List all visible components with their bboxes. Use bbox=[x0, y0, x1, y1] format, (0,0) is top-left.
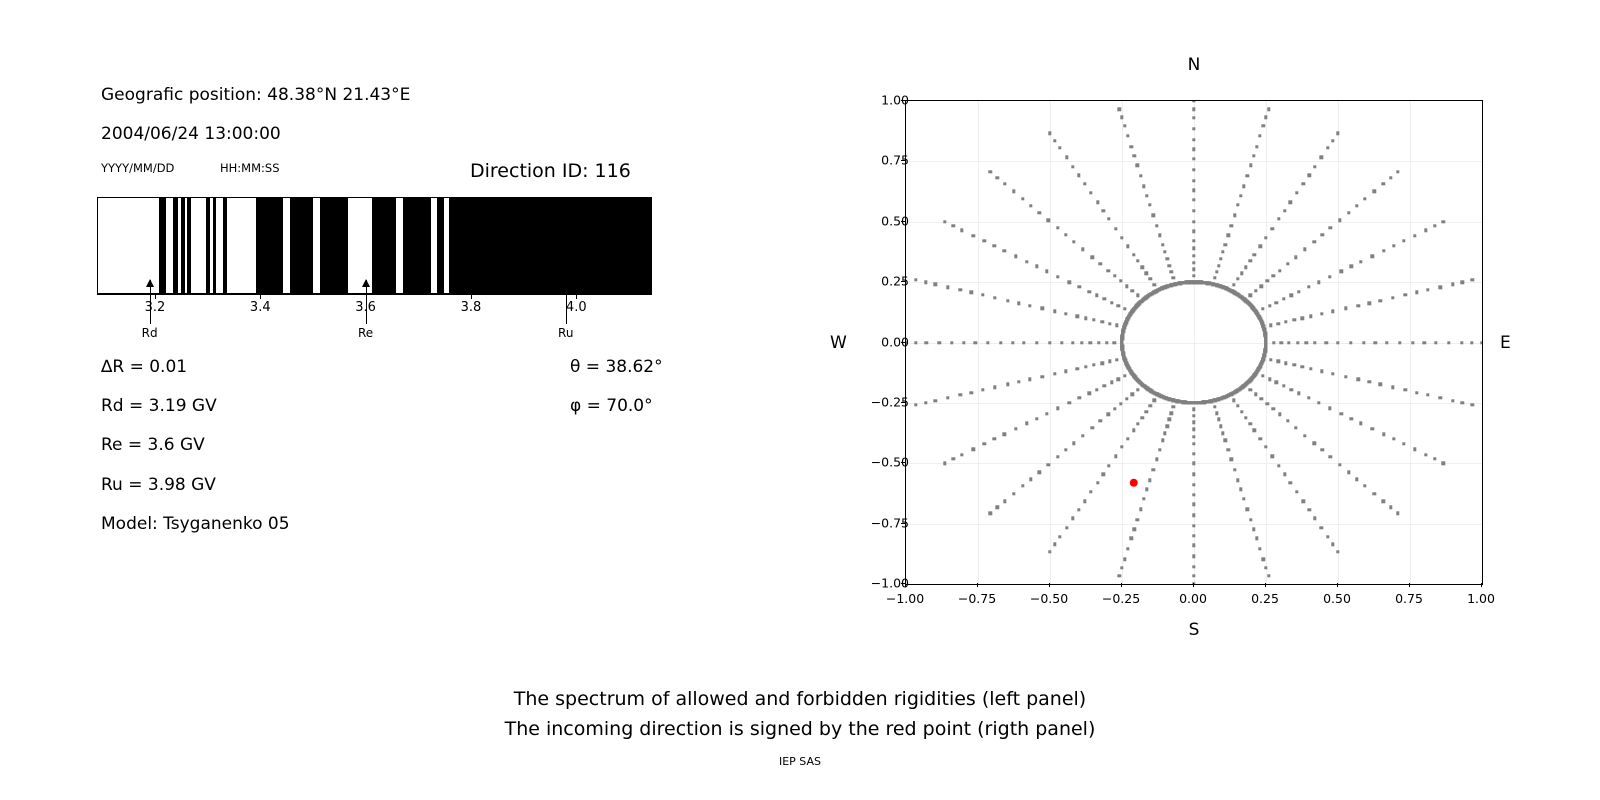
direction-grid-point bbox=[1217, 418, 1220, 421]
direction-grid-point bbox=[1172, 276, 1175, 279]
direction-grid-point bbox=[1145, 272, 1148, 275]
direction-grid-point bbox=[1244, 266, 1247, 269]
direction-grid-point bbox=[1277, 217, 1280, 220]
direction-grid-point bbox=[1012, 190, 1015, 193]
direction-grid-point bbox=[1275, 381, 1278, 384]
spectrum-forbidden-band bbox=[256, 198, 283, 293]
direction-grid-point bbox=[1071, 516, 1074, 519]
spectrum-tick-label: 4.0 bbox=[566, 300, 587, 315]
direction-grid-point bbox=[1359, 260, 1362, 263]
direction-grid-point bbox=[1192, 138, 1195, 141]
direction-grid-point bbox=[1253, 253, 1256, 256]
direction-grid-point bbox=[1262, 124, 1265, 127]
param-phi: φ = 70.0° bbox=[570, 396, 653, 416]
direction-grid-point bbox=[1115, 358, 1118, 361]
direction-grid-point bbox=[914, 278, 917, 281]
direction-grid-point bbox=[1260, 397, 1263, 400]
direction-grid-point bbox=[1136, 388, 1139, 391]
direction-grid-point bbox=[1242, 497, 1245, 500]
direction-grid-point bbox=[1313, 341, 1316, 344]
compass-east-label: E bbox=[1500, 333, 1511, 353]
direction-grid-point bbox=[1297, 392, 1300, 395]
direction-grid-point bbox=[1402, 239, 1405, 242]
direction-grid-point bbox=[1068, 280, 1071, 283]
direction-grid-point bbox=[1368, 301, 1371, 304]
direction-grid-point bbox=[1163, 250, 1166, 253]
direction-grid-point bbox=[1083, 182, 1086, 185]
direction-grid-point bbox=[1249, 518, 1252, 521]
direction-grid-point bbox=[952, 224, 955, 227]
direction-grid-point bbox=[1092, 318, 1095, 321]
direction-grid-point bbox=[1089, 490, 1092, 493]
param-delta-r: ∆R = 0.01 bbox=[101, 357, 187, 377]
spectrum-forbidden-band bbox=[173, 198, 178, 293]
direction-grid-point bbox=[943, 220, 946, 223]
direction-grid-point bbox=[1145, 194, 1148, 197]
direction-grid-point bbox=[1130, 537, 1133, 540]
spectrum-tick bbox=[260, 294, 261, 299]
spectrum-tick-label: 3.4 bbox=[250, 300, 271, 315]
direction-grid-point bbox=[1192, 565, 1195, 568]
direction-grid-point bbox=[1192, 435, 1195, 438]
direction-grid-point bbox=[1192, 274, 1195, 277]
direction-grid-point bbox=[1025, 260, 1028, 263]
direction-grid-point bbox=[1296, 341, 1299, 344]
direction-grid-point bbox=[1249, 164, 1252, 167]
direction-grid-point bbox=[1224, 243, 1227, 246]
direction-grid-point bbox=[1246, 508, 1249, 511]
x-axis-tick-label: −0.50 bbox=[1030, 591, 1068, 606]
direction-grid-point bbox=[1145, 410, 1148, 413]
direction-grid-point bbox=[1084, 365, 1087, 368]
footer-label: IEP SAS bbox=[0, 755, 1600, 768]
direction-grid-point bbox=[1268, 377, 1271, 380]
direction-grid-point bbox=[1192, 247, 1195, 250]
direction-grid-point bbox=[1115, 324, 1118, 327]
direction-grid-point bbox=[1145, 488, 1148, 491]
direction-grid-point bbox=[1424, 228, 1427, 231]
direction-grid-point bbox=[1126, 547, 1129, 550]
direction-grid-point bbox=[1320, 526, 1323, 529]
direction-grid-point bbox=[1336, 550, 1339, 553]
direction-grid-point bbox=[1331, 543, 1334, 546]
direction-grid-point bbox=[1047, 463, 1050, 466]
direction-grid-point bbox=[934, 399, 937, 402]
direction-grid-point bbox=[1107, 464, 1110, 467]
direction-grid-point bbox=[1152, 399, 1155, 402]
y-axis-tick-mark bbox=[901, 402, 905, 403]
direction-grid-point bbox=[1389, 176, 1392, 179]
direction-grid-point bbox=[1126, 437, 1129, 440]
direction-grid-point bbox=[993, 385, 996, 388]
x-axis-tick-label: 1.00 bbox=[1467, 591, 1495, 606]
direction-grid-point bbox=[981, 293, 984, 296]
direction-grid-point bbox=[1017, 380, 1020, 383]
direction-grid-point bbox=[1413, 234, 1416, 237]
direction-grid-point bbox=[1344, 375, 1347, 378]
direction-grid-point bbox=[1123, 124, 1126, 127]
direction-grid-point bbox=[1374, 341, 1377, 344]
direction-grid-point bbox=[1289, 201, 1292, 204]
direction-grid-point bbox=[1307, 396, 1310, 399]
direction-grid-point bbox=[1131, 393, 1134, 396]
direction-grid-point bbox=[1302, 182, 1305, 185]
direction-grid-point bbox=[1192, 209, 1195, 212]
marker-label: Ru bbox=[558, 326, 573, 340]
direction-grid-point bbox=[1317, 401, 1320, 404]
direction-grid-point bbox=[1165, 425, 1168, 428]
direction-grid-point bbox=[1313, 165, 1316, 168]
direction-grid-point bbox=[1136, 518, 1139, 521]
direction-grid-point bbox=[1003, 500, 1006, 503]
direction-grid-point bbox=[1255, 537, 1258, 540]
direction-grid-point bbox=[946, 396, 949, 399]
direction-grid-point bbox=[1192, 420, 1195, 423]
spectrum-tick bbox=[576, 294, 577, 299]
direction-grid-point bbox=[1349, 341, 1352, 344]
direction-grid-point bbox=[1077, 508, 1080, 511]
direction-grid-point bbox=[1103, 384, 1106, 387]
direction-grid-point bbox=[1064, 233, 1067, 236]
direction-grid-point bbox=[960, 453, 963, 456]
direction-grid-point bbox=[1326, 535, 1329, 538]
direction-grid-point bbox=[1278, 413, 1281, 416]
direction-grid-point bbox=[1192, 544, 1195, 547]
direction-grid-point bbox=[1149, 404, 1152, 407]
direction-grid-point bbox=[1339, 270, 1342, 273]
direction-grid-point bbox=[1110, 301, 1113, 304]
direction-grid-point bbox=[1289, 481, 1292, 484]
direction-grid-point bbox=[1120, 566, 1123, 569]
direction-grid-point bbox=[1102, 473, 1105, 476]
direction-grid-point bbox=[1373, 492, 1376, 495]
direction-grid-point bbox=[1158, 233, 1161, 236]
direction-grid-point bbox=[1192, 108, 1195, 111]
direction-grid-point bbox=[1110, 381, 1113, 384]
direction-grid-point bbox=[1053, 310, 1056, 313]
direction-grid-point bbox=[996, 176, 999, 179]
direction-grid-point bbox=[1029, 477, 1032, 480]
direction-grid-point bbox=[1006, 383, 1009, 386]
direction-grid-point bbox=[1259, 245, 1262, 248]
direction-grid-point bbox=[1012, 492, 1015, 495]
direction-grid-point bbox=[1282, 297, 1285, 300]
x-axis-tick-mark bbox=[1193, 583, 1194, 587]
param-ru: Ru = 3.98 GV bbox=[101, 475, 216, 495]
spectrum-forbidden-band bbox=[223, 198, 227, 293]
direction-grid-point bbox=[1242, 185, 1245, 188]
direction-grid-point bbox=[1411, 341, 1414, 344]
direction-grid-point bbox=[1236, 404, 1239, 407]
direction-grid-point bbox=[989, 170, 992, 173]
arrow-up-icon bbox=[146, 279, 154, 287]
direction-grid-point bbox=[1123, 558, 1126, 561]
x-axis-tick-label: −0.75 bbox=[958, 591, 996, 606]
direction-grid-point bbox=[1272, 341, 1275, 344]
direction-grid-point bbox=[1389, 506, 1392, 509]
direction-grid-point bbox=[1336, 341, 1339, 344]
direction-grid-point bbox=[1240, 410, 1243, 413]
direction-grid-point bbox=[1045, 270, 1048, 273]
direction-grid-point bbox=[970, 391, 973, 394]
direction-grid-point bbox=[1261, 374, 1264, 377]
direction-grid-point bbox=[1075, 367, 1078, 370]
direction-grid-point bbox=[1292, 363, 1295, 366]
axis-baseline bbox=[97, 294, 652, 295]
direction-grid-point bbox=[1117, 377, 1120, 380]
geographic-position-label: Geografic position: 48.38°N 21.43°E bbox=[101, 85, 410, 105]
direction-grid-point bbox=[1295, 490, 1298, 493]
direction-grid-point bbox=[1438, 396, 1441, 399]
incoming-direction-point bbox=[1129, 478, 1138, 487]
direction-grid-point bbox=[1192, 220, 1195, 223]
direction-grid-point bbox=[1003, 182, 1006, 185]
y-axis-tick-mark bbox=[901, 342, 905, 343]
direction-grid-point bbox=[1292, 318, 1295, 321]
direction-grid-point bbox=[1301, 316, 1304, 319]
direction-grid-point bbox=[1252, 154, 1255, 157]
direction-grid-point bbox=[1192, 254, 1195, 257]
direction-grid-point bbox=[1068, 401, 1071, 404]
x-axis-tick-label: 0.00 bbox=[1179, 591, 1207, 606]
direction-grid-point bbox=[1047, 219, 1050, 222]
direction-grid-point bbox=[1236, 277, 1239, 280]
direction-grid-point bbox=[1269, 358, 1272, 361]
direction-grid-point bbox=[1221, 250, 1224, 253]
direction-grid-point bbox=[1461, 280, 1464, 283]
direction-grid-point bbox=[1168, 418, 1171, 421]
direction-grid-point bbox=[1371, 254, 1374, 257]
direction-grid-point bbox=[1192, 168, 1195, 171]
direction-grid-point bbox=[1302, 500, 1305, 503]
direction-grid-point bbox=[1028, 304, 1031, 307]
direction-grid-point bbox=[1192, 574, 1195, 577]
direction-grid-point bbox=[1192, 462, 1195, 465]
direction-grid-point bbox=[1313, 516, 1316, 519]
direction-grid-point bbox=[924, 401, 927, 404]
direction-grid-point bbox=[1155, 457, 1158, 460]
y-axis-tick-mark bbox=[901, 221, 905, 222]
direction-grid-point bbox=[1295, 191, 1298, 194]
direction-grid-point bbox=[1244, 416, 1247, 419]
spectrum-tick bbox=[471, 294, 472, 299]
direction-grid-point bbox=[1264, 236, 1267, 239]
direction-grid-point bbox=[1132, 429, 1135, 432]
direction-grid-point bbox=[1083, 500, 1086, 503]
direction-grid-point bbox=[1140, 416, 1143, 419]
direction-grid-point bbox=[1219, 257, 1222, 260]
direction-grid-point bbox=[1303, 434, 1306, 437]
direction-grid-point bbox=[1192, 483, 1195, 486]
direction-grid-point bbox=[1284, 320, 1287, 323]
direction-grid-point bbox=[952, 457, 955, 460]
direction-grid-point bbox=[1320, 312, 1323, 315]
direction-grid-point bbox=[1286, 419, 1289, 422]
direction-grid-point bbox=[1277, 322, 1280, 325]
spectrum-forbidden-band bbox=[187, 198, 191, 293]
direction-grid-point bbox=[1363, 484, 1366, 487]
direction-grid-point bbox=[1433, 224, 1436, 227]
direction-grid-point bbox=[1261, 307, 1264, 310]
direction-grid-point bbox=[1021, 484, 1024, 487]
direction-grid-point bbox=[1239, 194, 1242, 197]
direction-grid-point bbox=[1155, 224, 1158, 227]
direction-grid-point bbox=[1260, 284, 1263, 287]
direction-grid-point bbox=[1192, 452, 1195, 455]
direction-grid-point bbox=[1368, 380, 1371, 383]
direction-grid-point bbox=[1470, 403, 1473, 406]
direction-grid-point bbox=[1192, 116, 1195, 119]
direction-grid-point bbox=[1120, 236, 1123, 239]
direction-grid-point bbox=[1140, 266, 1143, 269]
direction-grid-point bbox=[1480, 341, 1483, 344]
direction-grid-point bbox=[1307, 173, 1310, 176]
direction-grid-point bbox=[1080, 341, 1083, 344]
direction-grid-point bbox=[1215, 412, 1218, 415]
grid-line-horizontal bbox=[906, 161, 1482, 162]
direction-grid-point bbox=[1451, 399, 1454, 402]
time-format-hint: HH:MM:SS bbox=[220, 161, 280, 175]
compass-west-label: W bbox=[830, 333, 847, 353]
direction-grid-point bbox=[1426, 393, 1429, 396]
direction-grid-point bbox=[1320, 156, 1323, 159]
direction-grid-point bbox=[1131, 289, 1134, 292]
direction-grid-point bbox=[960, 228, 963, 231]
direction-grid-point bbox=[1136, 422, 1139, 425]
direction-grid-point bbox=[1277, 360, 1280, 363]
direction-grid-point bbox=[1038, 471, 1041, 474]
direction-grid-point bbox=[1307, 508, 1310, 511]
direction-grid-point bbox=[1355, 204, 1358, 207]
x-axis-tick-mark bbox=[1121, 583, 1122, 587]
direction-grid-point bbox=[1064, 448, 1067, 451]
direction-grid-point bbox=[1382, 182, 1385, 185]
direction-grid-point bbox=[1385, 341, 1388, 344]
direction-grid-point bbox=[1035, 417, 1038, 420]
direction-grid-point bbox=[1038, 211, 1041, 214]
direction-grid-point bbox=[1152, 214, 1155, 217]
direction-grid-point bbox=[1053, 543, 1056, 546]
direction-grid-point bbox=[1192, 555, 1195, 558]
direction-id-label: Direction ID: 116 bbox=[470, 160, 631, 182]
direction-grid-point bbox=[1356, 378, 1359, 381]
direction-grid-point bbox=[972, 448, 975, 451]
direction-grid-point bbox=[1133, 527, 1136, 530]
direction-grid-point bbox=[1192, 280, 1195, 283]
direction-grid-point bbox=[1152, 468, 1155, 471]
direction-grid-point bbox=[993, 437, 996, 440]
direction-grid-point bbox=[1090, 426, 1093, 429]
direction-grid-point bbox=[1321, 448, 1324, 451]
direction-grid-point bbox=[1136, 259, 1139, 262]
direction-grid-point bbox=[1192, 493, 1195, 496]
direction-grid-point bbox=[1011, 341, 1014, 344]
direction-grid-point bbox=[1236, 478, 1239, 481]
direction-grid-point bbox=[1168, 264, 1171, 267]
grid-line-horizontal bbox=[906, 343, 1482, 344]
direction-grid-point bbox=[1280, 341, 1283, 344]
direction-grid-point bbox=[1041, 375, 1044, 378]
direction-grid-point bbox=[959, 288, 962, 291]
direction-grid-point bbox=[1329, 226, 1332, 229]
direction-grid-point bbox=[1392, 244, 1395, 247]
direction-grid-point bbox=[1317, 280, 1320, 283]
direction-grid-point bbox=[1192, 428, 1195, 431]
direction-grid-point bbox=[1095, 294, 1098, 297]
direction-grid-point bbox=[1336, 132, 1339, 135]
direction-grid-point bbox=[1126, 134, 1129, 137]
direction-grid-point bbox=[1303, 248, 1306, 251]
polar-scatter-plot bbox=[905, 100, 1483, 585]
caption-line-1: The spectrum of allowed and forbidden ri… bbox=[0, 688, 1600, 710]
date-format-hint: YYYY/MM/DD bbox=[101, 161, 174, 175]
direction-grid-point bbox=[1396, 512, 1399, 515]
direction-grid-point bbox=[1136, 294, 1139, 297]
compass-north-label: N bbox=[1188, 55, 1201, 75]
spectrum-tick bbox=[155, 294, 156, 299]
direction-grid-point bbox=[1065, 526, 1068, 529]
direction-grid-point bbox=[1071, 165, 1074, 168]
direction-grid-point bbox=[1404, 388, 1407, 391]
direction-grid-point bbox=[1415, 291, 1418, 294]
direction-grid-point bbox=[1192, 534, 1195, 537]
direction-grid-point bbox=[1048, 341, 1051, 344]
direction-grid-point bbox=[1253, 429, 1256, 432]
direction-grid-point bbox=[1060, 341, 1063, 344]
direction-grid-point bbox=[993, 296, 996, 299]
direction-grid-point bbox=[1248, 422, 1251, 425]
direction-grid-point bbox=[1108, 322, 1111, 325]
direction-grid-point bbox=[1092, 363, 1095, 366]
direction-grid-point bbox=[1371, 427, 1374, 430]
direction-grid-point bbox=[1309, 367, 1312, 370]
direction-grid-point bbox=[1090, 255, 1093, 258]
spectrum-forbidden-band bbox=[290, 198, 312, 293]
x-axis-tick-mark bbox=[905, 583, 906, 587]
direction-grid-point bbox=[1071, 341, 1074, 344]
direction-grid-point bbox=[1278, 269, 1281, 272]
direction-grid-point bbox=[1249, 388, 1252, 391]
direction-grid-point bbox=[981, 388, 984, 391]
direction-grid-point bbox=[914, 341, 917, 344]
direction-grid-point bbox=[1398, 341, 1401, 344]
direction-grid-point bbox=[1192, 524, 1195, 527]
direction-grid-point bbox=[1338, 463, 1341, 466]
direction-grid-point bbox=[1382, 433, 1385, 436]
direction-grid-point bbox=[1136, 164, 1139, 167]
direction-grid-point bbox=[1290, 294, 1293, 297]
direction-grid-point bbox=[1119, 279, 1122, 282]
direction-grid-point bbox=[1084, 316, 1087, 319]
direction-grid-point bbox=[959, 393, 962, 396]
spectrum-forbidden-band bbox=[181, 198, 185, 293]
direction-grid-point bbox=[1233, 468, 1236, 471]
direction-grid-point bbox=[1064, 370, 1067, 373]
direction-grid-point bbox=[1035, 265, 1038, 268]
rigidity-spectrum-panel: Geografic position: 48.38°N 21.43°E 2004… bbox=[0, 0, 740, 660]
direction-grid-point bbox=[1470, 341, 1473, 344]
direction-grid-point bbox=[999, 341, 1002, 344]
x-axis-tick-label: 0.50 bbox=[1323, 591, 1351, 606]
direction-grid-point bbox=[1287, 341, 1290, 344]
direction-grid-point bbox=[989, 512, 992, 515]
direction-grid-point bbox=[1014, 427, 1017, 430]
direction-grid-point bbox=[983, 442, 986, 445]
direction-grid-point bbox=[1192, 127, 1195, 130]
direction-grid-point bbox=[1266, 279, 1269, 282]
direction-grid-point bbox=[1114, 227, 1117, 230]
direction-grid-point bbox=[946, 285, 949, 288]
